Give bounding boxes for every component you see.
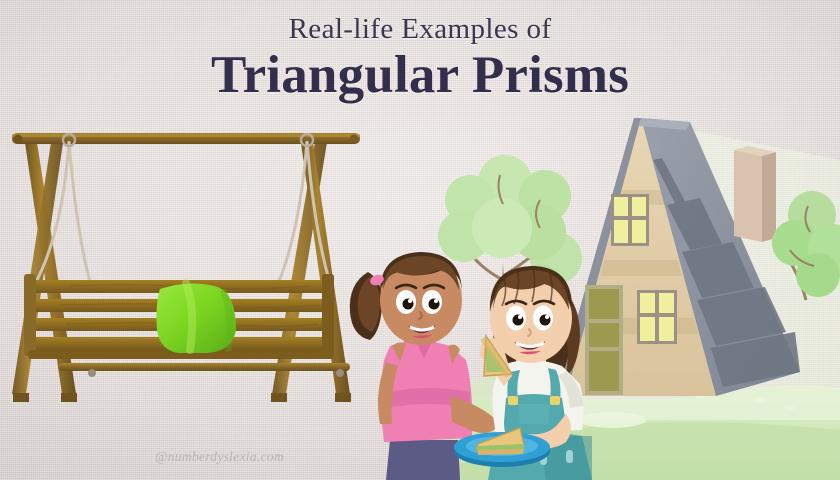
watermark-credit: @numberdyslexia.com xyxy=(155,449,284,465)
chimney xyxy=(734,146,776,242)
upper-window xyxy=(611,194,649,246)
green-cushion xyxy=(156,283,236,353)
swing-left-frame xyxy=(12,136,77,402)
front-door xyxy=(585,285,623,395)
lower-window xyxy=(637,290,677,344)
illustration-scene xyxy=(0,0,840,480)
swing-lower-rail xyxy=(58,363,350,377)
wooden-swing-set xyxy=(12,133,360,402)
swing-ropes xyxy=(36,141,332,290)
poster-root: Real-life Examples of Triangular Prisms … xyxy=(0,0,840,480)
